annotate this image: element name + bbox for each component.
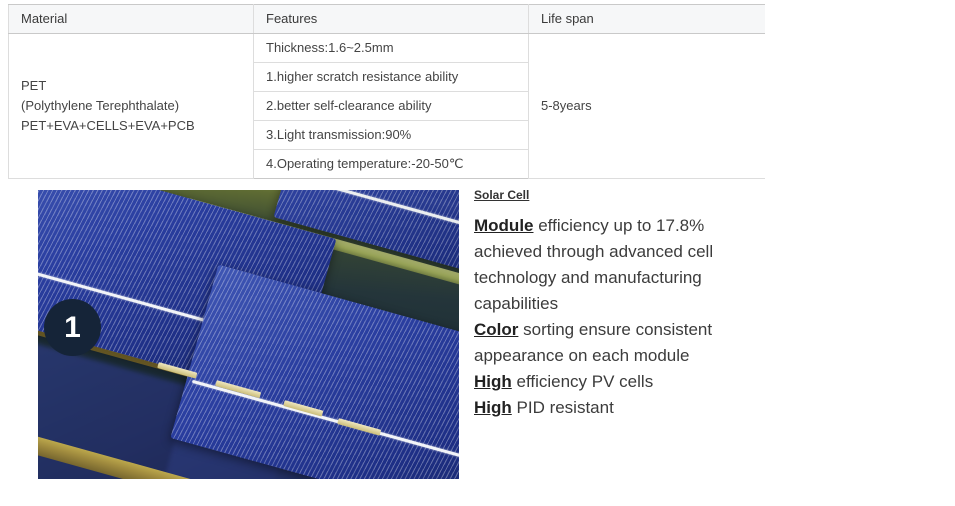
material-spec-table: Material Features Life span PET (Polythy… [8,4,765,179]
solar-cell-photo: 1 [38,190,459,479]
column-header-life-span: Life span [529,5,765,34]
cell-feature-scratch: 1.higher scratch resistance ability [254,63,529,92]
feature-line: High PID resistant [474,395,754,421]
feature-line-text: PID resistant [512,398,614,417]
table-row: PET (Polythylene Terephthalate) PET+EVA+… [9,34,765,63]
feature-bullet-list: Module efficiency up to 17.8% achieved t… [474,213,754,421]
feature-line: Color sorting ensure consistent appearan… [474,317,754,369]
table-header: Material Features Life span [9,5,765,34]
table-body: PET (Polythylene Terephthalate) PET+EVA+… [9,34,765,179]
cell-feature-light-transmission: 3.Light transmission:90% [254,121,529,150]
photo-background [38,190,459,479]
feature-title: Solar Cell [474,186,754,205]
cell-material: PET (Polythylene Terephthalate) PET+EVA+… [9,34,254,179]
feature-line: High efficiency PV cells [474,369,754,395]
feature-line-text: efficiency PV cells [512,372,653,391]
feature-line: Module efficiency up to 17.8% achieved t… [474,213,754,317]
table-header-row: Material Features Life span [9,5,765,34]
material-value: PET (Polythylene Terephthalate) PET+EVA+… [21,78,195,133]
feature-panel: 1 Solar Cell Module efficiency up to 17.… [0,186,955,506]
column-header-features: Features [254,5,529,34]
cell-feature-thickness: Thickness:1.6~2.5mm [254,34,529,63]
spec-table-container: Material Features Life span PET (Polythy… [8,4,764,179]
feature-keyword: Module [474,216,534,235]
feature-keyword: High [474,398,512,417]
feature-keyword: Color [474,320,518,339]
column-header-material: Material [9,5,254,34]
step-number-badge: 1 [44,299,101,356]
cell-life-span: 5-8years [529,34,765,179]
cell-feature-operating-temperature: 4.Operating temperature:-20-50℃ [254,150,529,179]
cell-feature-self-clearance: 2.better self-clearance ability [254,92,529,121]
solar-cell-shape [170,265,459,479]
feature-keyword: High [474,372,512,391]
feature-text-block: Solar Cell Module efficiency up to 17.8%… [474,186,754,421]
